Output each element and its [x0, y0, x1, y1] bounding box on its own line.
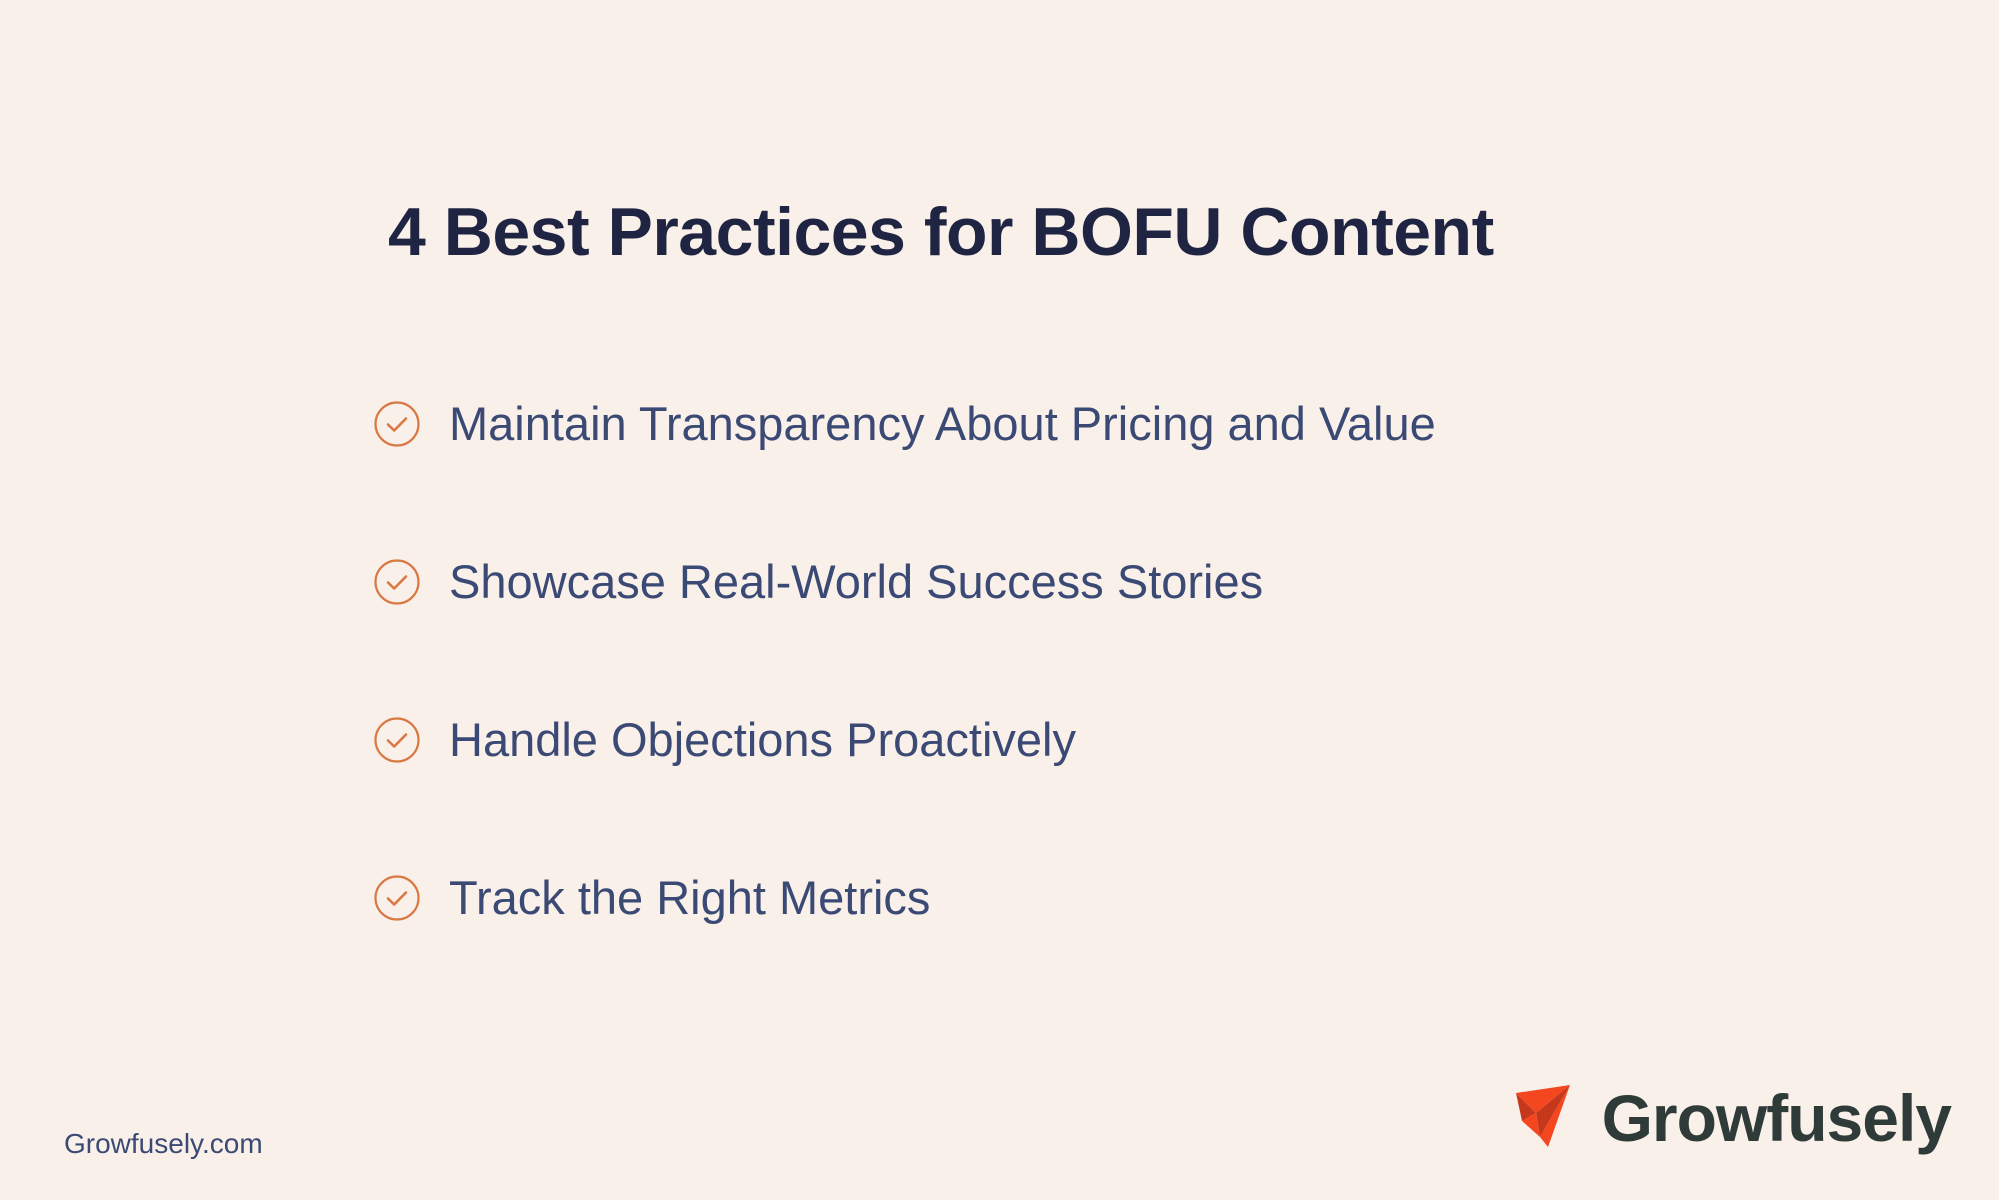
list-item-label: Track the Right Metrics [449, 872, 930, 924]
list-item-label: Showcase Real-World Success Stories [449, 556, 1263, 608]
circle-check-icon [373, 400, 421, 448]
footer-website-url[interactable]: Growfusely.com [64, 1128, 263, 1160]
list-item: Track the Right Metrics [373, 864, 1773, 932]
brand-name-label: Growfusely [1602, 1085, 1951, 1151]
best-practices-list: Maintain Transparency About Pricing and … [373, 390, 1773, 932]
list-item-label: Handle Objections Proactively [449, 714, 1076, 766]
paper-plane-icon [1510, 1075, 1596, 1161]
list-item: Maintain Transparency About Pricing and … [373, 390, 1773, 458]
list-item: Handle Objections Proactively [373, 706, 1773, 774]
list-item: Showcase Real-World Success Stories [373, 548, 1773, 616]
page-title: 4 Best Practices for BOFU Content [388, 194, 1688, 270]
list-item-label: Maintain Transparency About Pricing and … [449, 398, 1436, 450]
circle-check-icon [373, 716, 421, 764]
circle-check-icon [373, 874, 421, 922]
brand-logo: Growfusely [1510, 1070, 1951, 1166]
slide-canvas: 4 Best Practices for BOFU Content Mainta… [0, 0, 1999, 1200]
circle-check-icon [373, 558, 421, 606]
